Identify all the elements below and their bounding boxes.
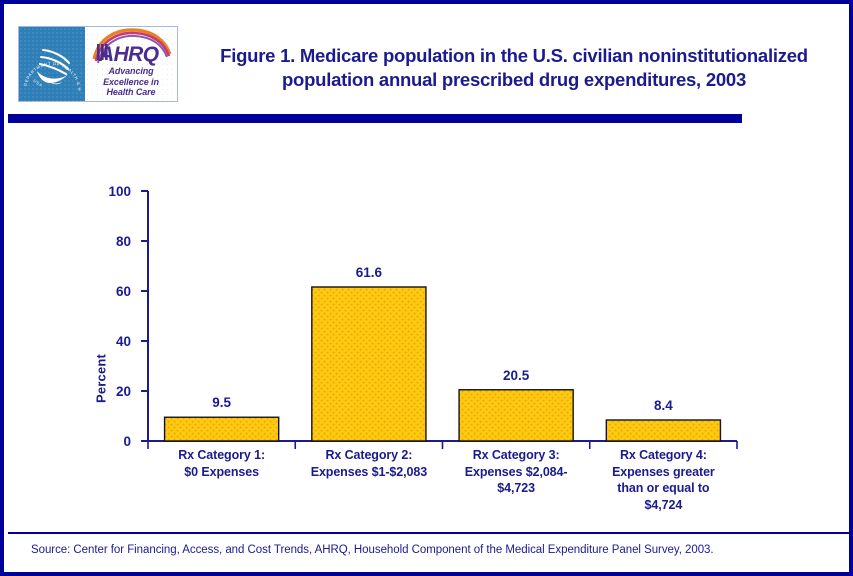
x-axis-category-line: Expenses greater [588, 464, 738, 481]
ahrq-wordmark-text: AHRQ [98, 43, 159, 66]
y-axis-tick-label: 0 [91, 435, 131, 449]
header-divider [8, 114, 742, 123]
bar-value-label: 8.4 [603, 399, 723, 413]
figure-header: DEPARTMENT OF HEALTH & HUMAN SERVICES US… [8, 8, 853, 106]
bar [606, 420, 720, 441]
x-axis-category-line: than or equal to [588, 480, 738, 497]
x-axis-category-line: Expenses $2,084- [441, 464, 591, 481]
x-axis-category-line: Rx Category 4: [588, 447, 738, 464]
bar-value-label: 9.5 [162, 396, 282, 410]
x-axis-category-line: Rx Category 2: [294, 447, 444, 464]
x-axis-category-line: Rx Category 1: [147, 447, 297, 464]
bar [165, 417, 279, 441]
x-axis-category-label: Rx Category 1:$0 Expenses [147, 447, 297, 480]
figure-title: Figure 1. Medicare population in the U.S… [184, 44, 844, 92]
ahrq-tagline-line-1: Advancing [85, 66, 177, 77]
x-axis-category-line: $0 Expenses [147, 464, 297, 481]
x-axis-category-label: Rx Category 2:Expenses $1-$2,083 [294, 447, 444, 480]
x-axis-category-line: Rx Category 3: [441, 447, 591, 464]
y-axis-tick-label: 80 [91, 235, 131, 249]
ahrq-tagline-line-3: Health Care [85, 87, 177, 98]
ahrq-arc-icon: AHRQ [85, 27, 177, 67]
bar-value-label: 20.5 [456, 369, 576, 383]
y-axis-tick-label: 100 [91, 185, 131, 199]
ahrq-logo: DEPARTMENT OF HEALTH & HUMAN SERVICES US… [18, 26, 178, 102]
y-axis-tick-label: 20 [91, 385, 131, 399]
x-axis-category-line: $4,724 [588, 497, 738, 514]
bar-chart: Percent 0204060801009.5Rx Category 1:$0 … [8, 123, 853, 523]
bar [312, 287, 426, 441]
figure-page: DEPARTMENT OF HEALTH & HUMAN SERVICES US… [0, 0, 853, 576]
x-axis-category-label: Rx Category 4:Expenses greaterthan or eq… [588, 447, 738, 513]
x-axis-category-label: Rx Category 3:Expenses $2,084-$4,723 [441, 447, 591, 497]
bar [459, 390, 573, 441]
ahrq-tagline-line-2: Excellence in [85, 77, 177, 88]
ahrq-wordmark-panel: AHRQ Advancing Excellence in Health Care [85, 27, 177, 101]
x-axis-category-line: $4,723 [441, 480, 591, 497]
source-note: Source: Center for Financing, Access, an… [31, 543, 831, 557]
x-axis-category-line: Expenses $1-$2,083 [294, 464, 444, 481]
footer-divider [8, 532, 853, 534]
y-axis-tick-label: 40 [91, 335, 131, 349]
bar-value-label: 61.6 [309, 266, 429, 280]
hhs-seal-icon: DEPARTMENT OF HEALTH & HUMAN SERVICES US… [19, 27, 85, 101]
hhs-eagle-icon: DEPARTMENT OF HEALTH & HUMAN SERVICES US… [19, 27, 85, 101]
y-axis-tick-label: 60 [91, 285, 131, 299]
